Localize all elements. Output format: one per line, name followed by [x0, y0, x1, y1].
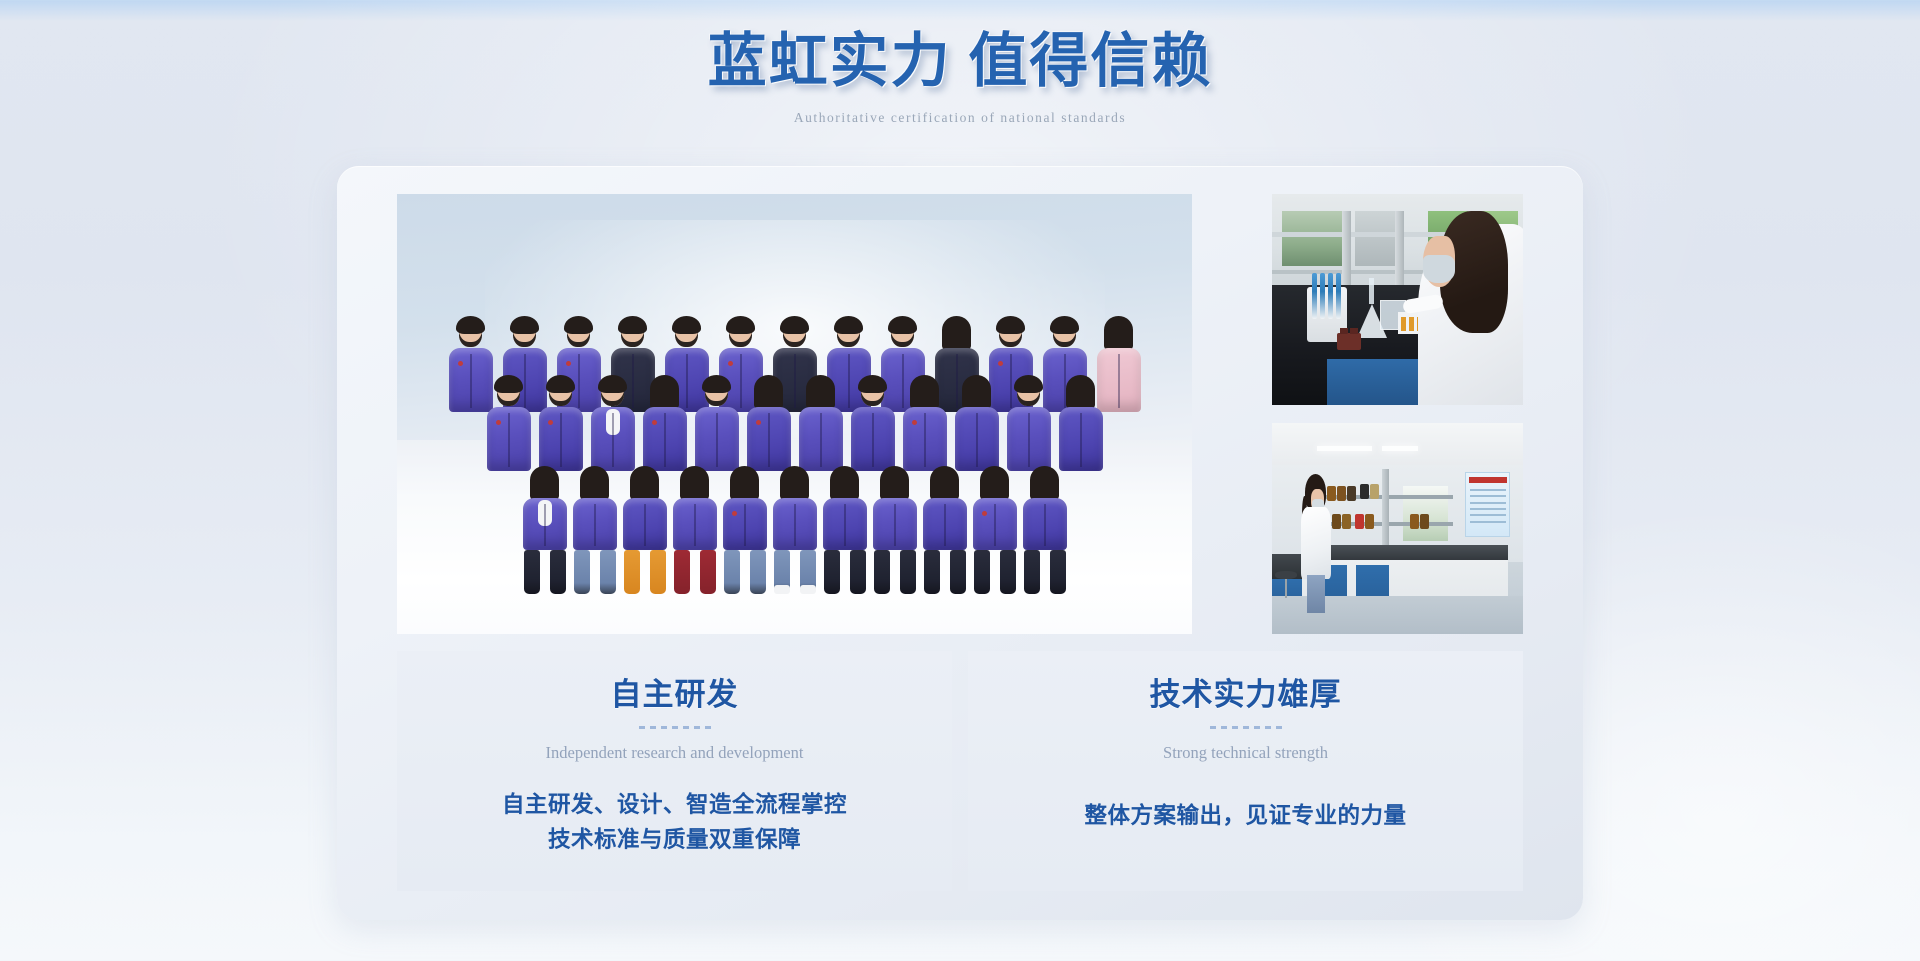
person [1023, 470, 1067, 594]
person [723, 470, 767, 594]
laboratory-interior-photo[interactable] [1272, 423, 1523, 634]
page-title: 蓝虹实力 值得信赖 [0, 22, 1920, 100]
person [539, 379, 583, 471]
card-title: 自主研发 [397, 651, 952, 715]
card-body-line-1: 整体方案输出，见证专业的力量 [1084, 803, 1406, 828]
feature-cards: 自主研发 Independent research and developmen… [397, 651, 1523, 891]
card-subtitle: Strong technical strength [968, 741, 1523, 765]
person [623, 470, 667, 594]
media-gallery [397, 194, 1523, 634]
card-body: 整体方案输出，见证专业的力量 [968, 798, 1523, 833]
person [903, 379, 947, 471]
person [955, 379, 999, 471]
section-heading: 蓝虹实力 值得信赖 Authoritative certification of… [0, 22, 1920, 128]
person [487, 379, 531, 471]
person [673, 470, 717, 594]
team-rows [397, 194, 1192, 634]
dotted-divider [968, 726, 1523, 729]
person [573, 470, 617, 594]
company-team-group-photo[interactable] [397, 194, 1192, 634]
person [695, 379, 739, 471]
person [873, 470, 917, 594]
person [799, 379, 843, 471]
card-body: 自主研发、设计、智造全流程掌控 技术标准与质量双重保障 [397, 787, 952, 857]
person [643, 379, 687, 471]
person [747, 379, 791, 471]
person [851, 379, 895, 471]
person [973, 470, 1017, 594]
card-body-line-2: 技术标准与质量双重保障 [397, 822, 952, 857]
card-subtitle: Independent research and development [397, 741, 952, 765]
feature-card-technical-strength[interactable]: 技术实力雄厚 Strong technical strength 整体方案输出，… [968, 651, 1523, 891]
lab-scene-interior [1272, 423, 1523, 634]
dotted-divider [397, 726, 952, 729]
feature-card-independent-rd[interactable]: 自主研发 Independent research and developmen… [397, 651, 952, 891]
person [591, 379, 635, 471]
person [923, 470, 967, 594]
person [773, 470, 817, 594]
laboratory-technician-photo[interactable] [1272, 194, 1523, 405]
person [1059, 379, 1103, 471]
team-row-middle [397, 379, 1192, 471]
person [1007, 379, 1051, 471]
lab-scene-technician [1272, 194, 1523, 405]
page-subtitle: Authoritative certification of national … [0, 108, 1920, 128]
card-body-line-1: 自主研发、设计、智造全流程掌控 [502, 792, 847, 817]
content-panel: 自主研发 Independent research and developmen… [337, 166, 1583, 920]
team-row-front [397, 470, 1192, 594]
person [523, 470, 567, 594]
person [823, 470, 867, 594]
card-title: 技术实力雄厚 [968, 651, 1523, 715]
